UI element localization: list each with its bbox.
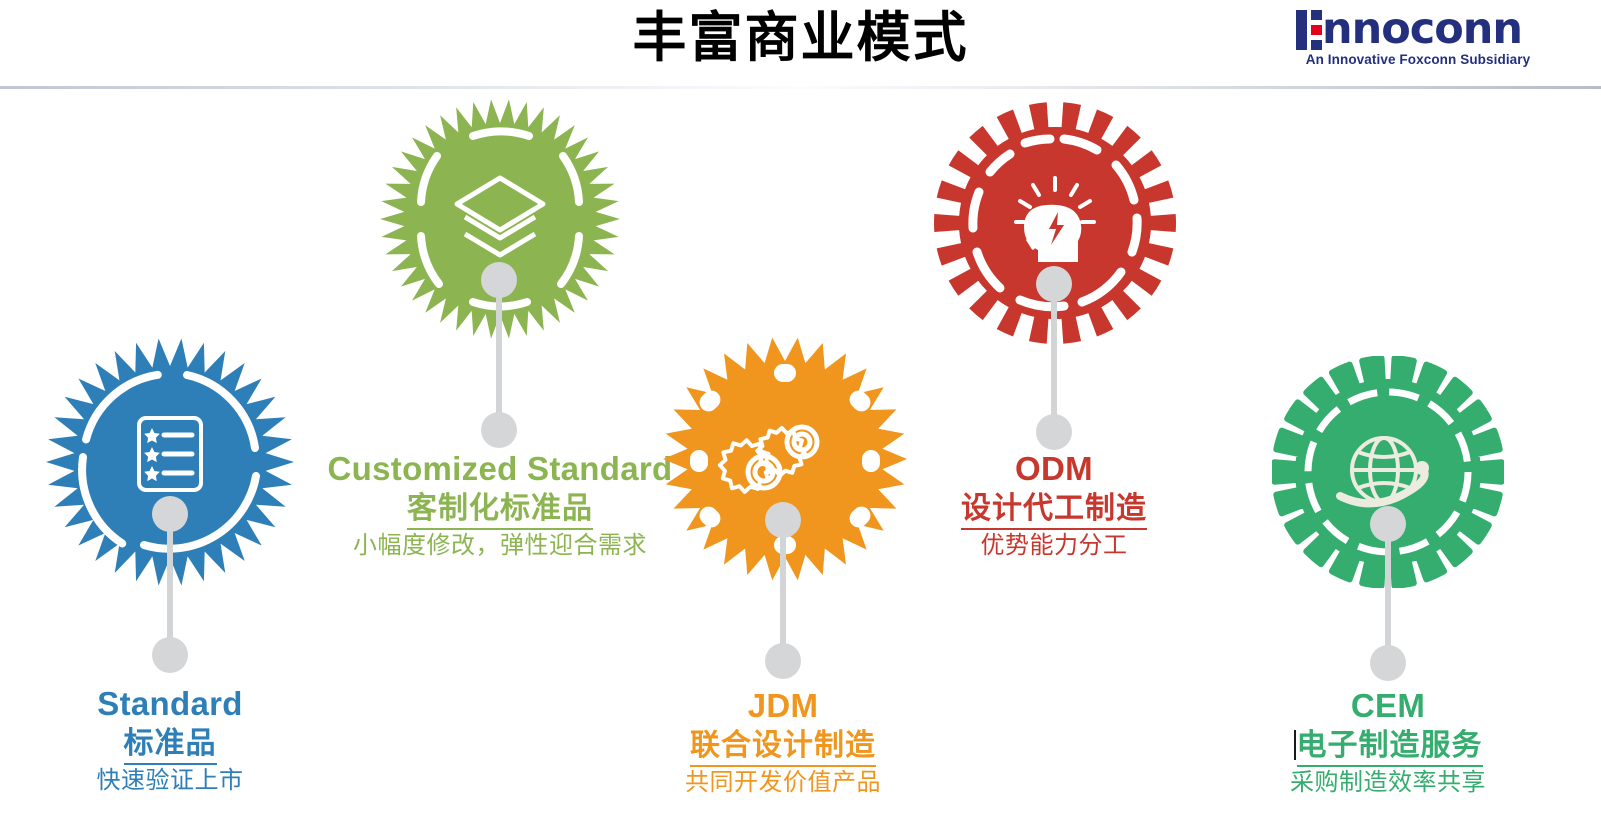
labels-jdm: JDM 联合设计制造 共同开发价值产品: [623, 685, 943, 799]
label-sub-jdm: 共同开发价值产品: [623, 765, 943, 799]
label-en-jdm: JDM: [623, 685, 943, 726]
label-cn-jdm: 联合设计制造: [623, 726, 943, 765]
logo-square-top: [1311, 10, 1322, 20]
label-cn-standard: 标准品: [10, 724, 330, 763]
label-sub-cem: 采购制造效率共享: [1228, 765, 1548, 799]
connector-dot-bottom-odm: [1036, 414, 1072, 450]
logo-bar-shape: [1296, 10, 1307, 50]
header-rule-shadow: [0, 86, 1601, 89]
label-sub-odm: 优势能力分工: [894, 528, 1214, 562]
connector-dot-bottom-customized-standard: [481, 412, 517, 448]
text-caret: [1294, 730, 1296, 760]
connector-dot-top-cem: [1370, 506, 1406, 542]
slide-header: 丰富商业模式 nnoconn An Innovative Foxconn Sub…: [0, 0, 1601, 88]
connector-dot-top-jdm: [765, 502, 801, 538]
labels-customized-standard: Customized Standard 客制化标准品 小幅度修改，弹性迎合需求: [305, 448, 695, 562]
logo-square-middle-red: [1311, 25, 1322, 35]
logo-square-bottom: [1311, 40, 1322, 50]
connector-dot-bottom-jdm: [765, 643, 801, 679]
label-en-customized-standard: Customized Standard: [305, 448, 695, 489]
label-cn-cem: 电子制造服务: [1228, 726, 1548, 765]
label-en-cem: CEM: [1228, 685, 1548, 726]
connector-dot-top-odm: [1036, 266, 1072, 302]
connector-dot-bottom-standard: [152, 637, 188, 673]
header-gradient-rule: [0, 79, 1601, 86]
label-cn-odm: 设计代工制造: [894, 489, 1214, 528]
labels-odm: ODM 设计代工制造 优势能力分工: [894, 448, 1214, 562]
labels-standard: Standard 标准品 快速验证上市: [10, 683, 330, 797]
slide-canvas: 丰富商业模式 nnoconn An Innovative Foxconn Sub…: [0, 0, 1601, 840]
labels-cem: CEM 电子制造服务 采购制造效率共享: [1228, 685, 1548, 799]
label-sub-standard: 快速验证上市: [10, 763, 330, 797]
label-en-standard: Standard: [10, 683, 330, 724]
label-sub-customized-standard: 小幅度修改，弹性迎合需求: [305, 528, 695, 562]
innoconn-logo: nnoconn An Innovative Foxconn Subsidiary: [1296, 8, 1536, 70]
label-cn-customized-standard: 客制化标准品: [305, 489, 695, 528]
label-en-odm: ODM: [894, 448, 1214, 489]
connector-dot-top-standard: [152, 496, 188, 532]
connector-dot-top-customized-standard: [481, 262, 517, 298]
connector-dot-bottom-cem: [1370, 645, 1406, 681]
logo-tagline: An Innovative Foxconn Subsidiary: [1300, 52, 1536, 67]
logo-wordmark: nnoconn: [1322, 6, 1522, 52]
